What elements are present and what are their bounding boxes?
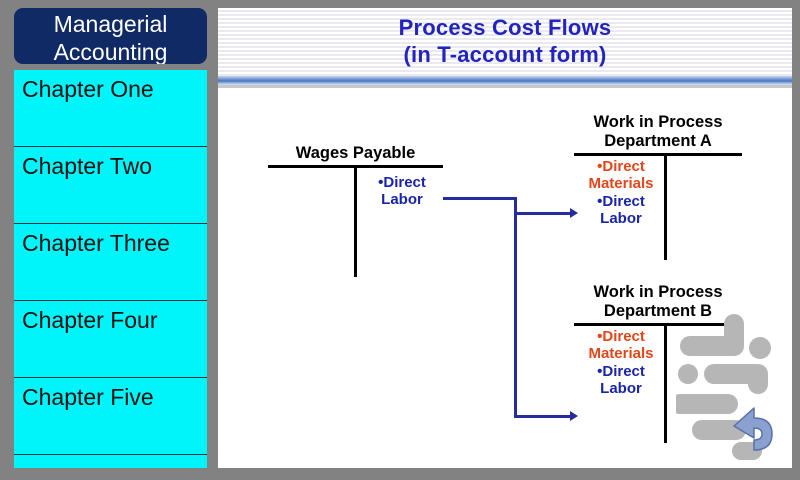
t-entry-line1: •Direct <box>578 363 664 380</box>
sidebar-item-label: Chapter Three <box>22 230 170 256</box>
t-entry-line1: •Direct <box>362 174 442 191</box>
t-entry-line1: •Direct <box>578 328 664 345</box>
sidebar-item-chapter-five[interactable]: Chapter Five <box>14 378 207 455</box>
flow-line-wages-trunk-vertical <box>514 197 517 418</box>
t-account-stem <box>664 325 667 443</box>
page-title-line1: Process Cost Flows <box>218 14 792 41</box>
t-account-title-line1: Wages Payable <box>268 144 443 163</box>
t-account-title: Work in Process Department B <box>574 283 742 321</box>
slide-viewer: Managerial Accounting Chapter One Chapte… <box>0 0 800 480</box>
sidebar-item-chapter-three[interactable]: Chapter Three <box>14 224 207 301</box>
arrowhead-to-department-b-icon <box>570 411 578 421</box>
sidebar-item-label: Chapter Two <box>22 153 152 179</box>
page-title: Process Cost Flows (in T-account form) <box>218 14 792 68</box>
t-account-title: Wages Payable <box>268 144 443 163</box>
chapter-list: Chapter One Chapter Two Chapter Three Ch… <box>14 70 207 468</box>
t-account-title-line1: Work in Process <box>574 283 742 302</box>
slide-title-band: Process Cost Flows (in T-account form) <box>218 8 792 76</box>
t-entry-debit-direct-labor: •Direct Labor <box>578 363 664 397</box>
t-entry-debit-direct-materials: •Direct Materials <box>578 158 664 192</box>
sidebar-title: Managerial Accounting <box>14 8 207 64</box>
t-account-title-line1: Work in Process <box>574 113 742 132</box>
refresh-arrow-icon <box>734 408 772 450</box>
t-account-title-line2: Department A <box>574 132 742 151</box>
slide-content: Process Cost Flows (in T-account form) W… <box>218 8 792 468</box>
flow-line-to-department-a <box>514 212 572 215</box>
t-entry-debit-direct-materials: •Direct Materials <box>578 328 664 362</box>
flow-line-to-department-b <box>514 415 572 418</box>
sidebar-item-label: Chapter Four <box>22 307 158 333</box>
t-entry-line2: Materials <box>578 345 664 362</box>
t-account-rule <box>574 153 742 156</box>
t-entry-line2: Labor <box>362 191 442 208</box>
t-account-title: Work in Process Department A <box>574 113 742 151</box>
t-account-title-line2: Department B <box>574 302 742 321</box>
flow-line-wages-trunk-horizontal <box>443 197 517 200</box>
sidebar-item-chapter-two[interactable]: Chapter Two <box>14 147 207 224</box>
t-entry-line2: Materials <box>578 175 664 192</box>
t-account-diagram: Wages Payable •Direct Labor Work in Proc… <box>218 88 792 468</box>
sidebar-item-label: Chapter Five <box>22 384 154 410</box>
t-account-wip-department-a: Work in Process Department A •Direct Mat… <box>574 113 742 156</box>
t-entry-line1: •Direct <box>578 158 664 175</box>
t-entry-debit-direct-labor: •Direct Labor <box>578 193 664 227</box>
t-entry-line2: Labor <box>578 380 664 397</box>
page-title-line2: (in T-account form) <box>218 41 792 68</box>
t-account-wages-payable: Wages Payable •Direct Labor <box>268 144 443 168</box>
sidebar-item-chapter-four[interactable]: Chapter Four <box>14 301 207 378</box>
t-entry-credit-direct-labor: •Direct Labor <box>362 174 442 208</box>
t-account-stem <box>354 167 357 277</box>
t-account-wip-department-b: Work in Process Department B •Direct Mat… <box>574 283 742 326</box>
t-entry-line1: •Direct <box>578 193 664 210</box>
sidebar-item-label: Chapter One <box>22 76 154 102</box>
arrowhead-to-department-a-icon <box>570 208 578 218</box>
sidebar-item-chapter-six[interactable] <box>14 455 207 468</box>
watermark-logo-icon <box>676 308 792 468</box>
t-account-stem <box>664 155 667 260</box>
chapter-sidebar: Managerial Accounting Chapter One Chapte… <box>14 8 207 468</box>
title-divider <box>218 76 792 85</box>
sidebar-item-chapter-one[interactable]: Chapter One <box>14 70 207 147</box>
t-account-rule <box>574 323 742 326</box>
t-entry-line2: Labor <box>578 210 664 227</box>
